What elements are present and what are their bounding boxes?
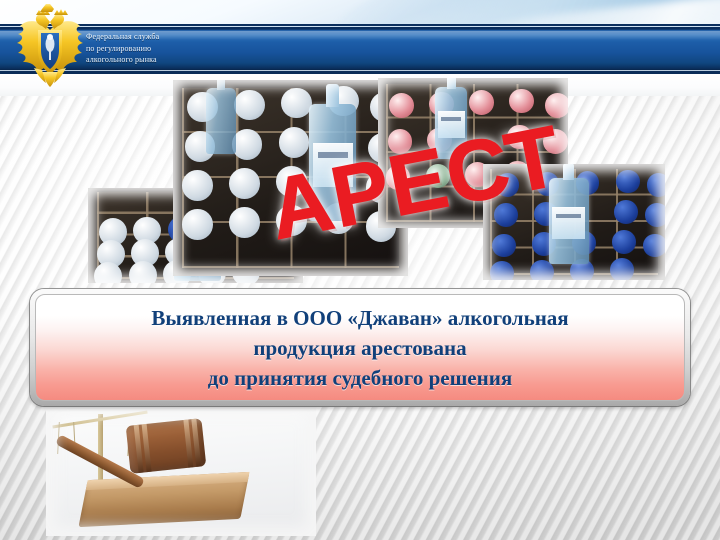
message-line-1: Выявленная в ООО «Джаван» алкогольная: [151, 303, 568, 333]
message-banner-body: Выявленная в ООО «Джаван» алкогольная пр…: [35, 294, 685, 401]
presentation-slide: Федеральная служба по регулированию алко…: [0, 0, 720, 540]
organization-name-line-2: по регулированию: [86, 43, 336, 55]
judge-gavel-image: [46, 404, 316, 536]
message-line-2: продукция арестована: [253, 333, 466, 363]
message-banner: Выявленная в ООО «Джаван» алкогольная пр…: [30, 289, 690, 406]
organization-name-line-3: алкогольного рынка: [86, 54, 336, 66]
organization-name-line-1: Федеральная служба: [86, 31, 336, 43]
message-line-3: до принятия судебного решения: [208, 363, 512, 393]
russian-double-headed-eagle-emblem-icon: [14, 4, 86, 88]
organization-name: Федеральная служба по регулированию алко…: [86, 31, 336, 66]
